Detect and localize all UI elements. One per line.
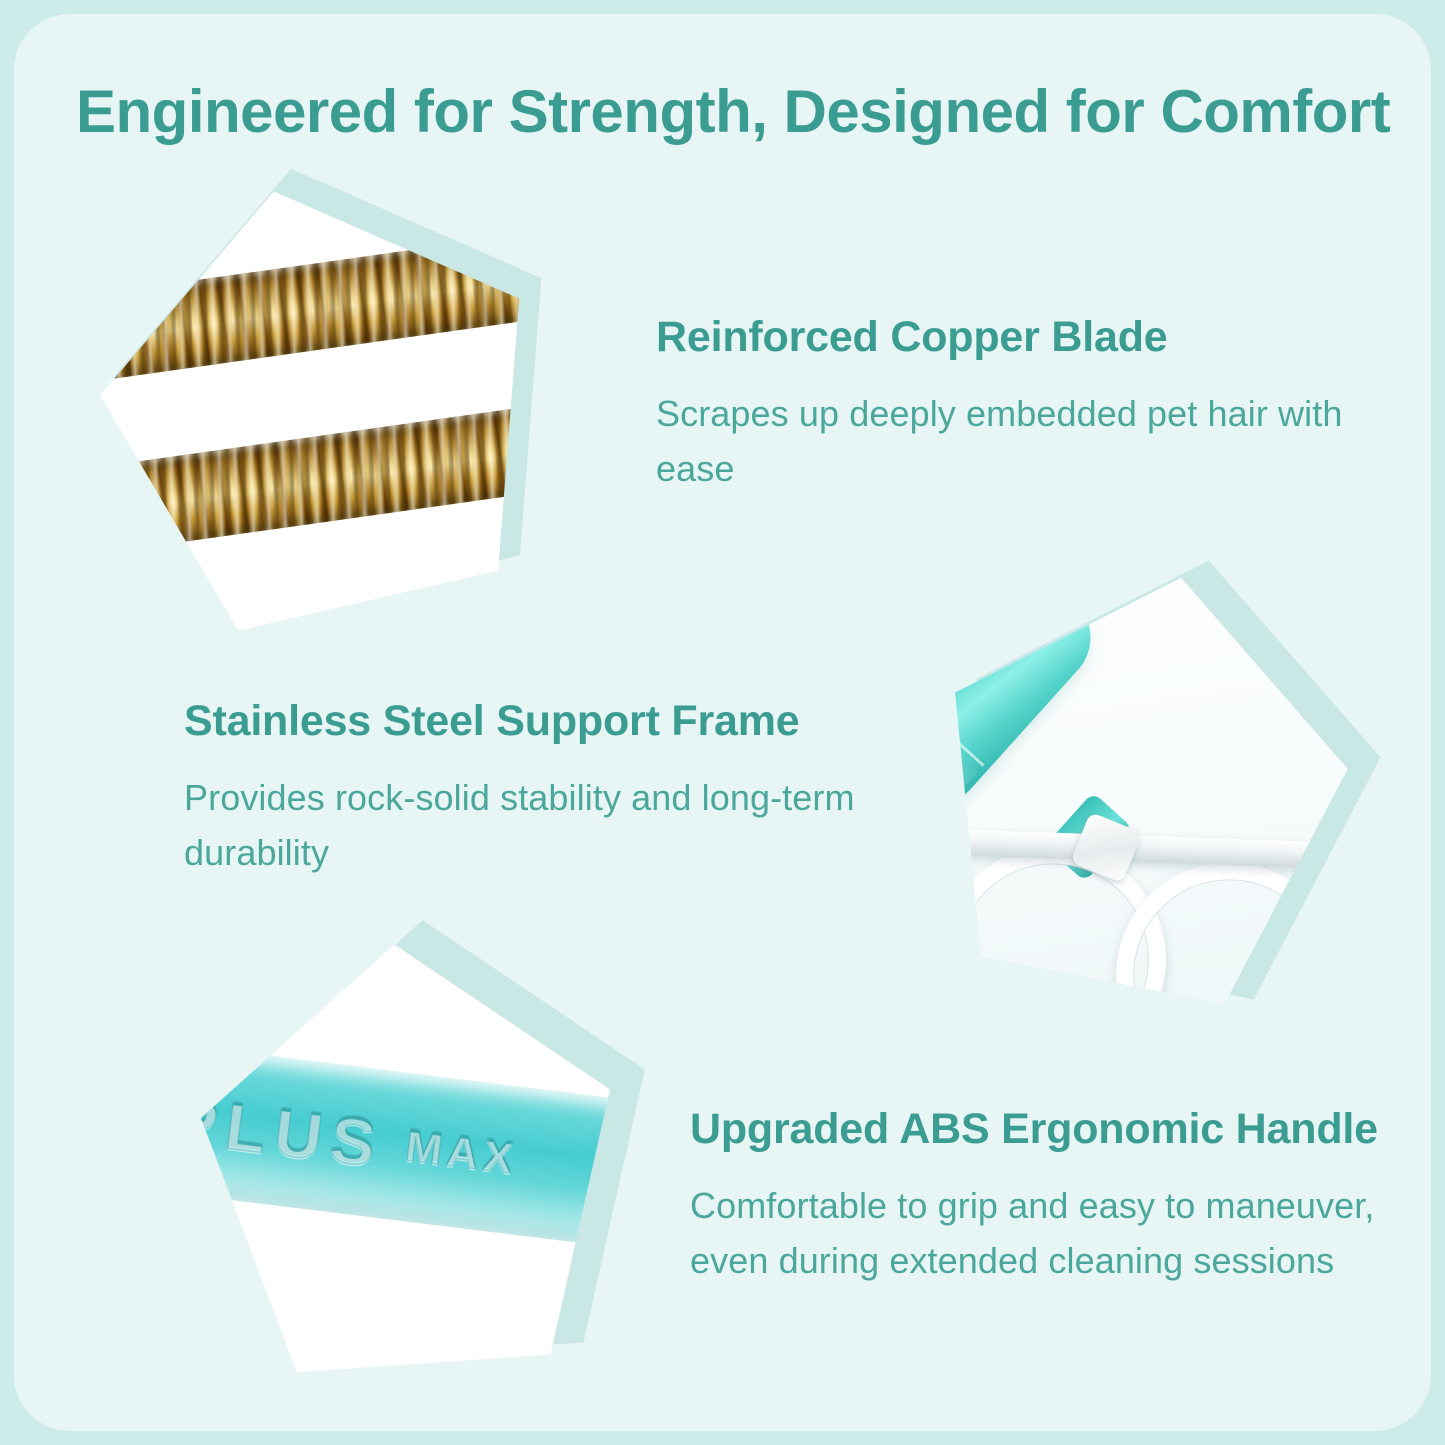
feature-text-ergonomic-handle: Upgraded ABS Ergonomic Handle Comfortabl…: [690, 1102, 1430, 1288]
copper-blade-photo: [64, 143, 577, 649]
copper-blade-strip-bottom: [64, 388, 577, 563]
feature-description-copper-blade: Scrapes up deeply embedded pet hair with…: [656, 386, 1356, 496]
feature-title-ergonomic-handle: Upgraded ABS Ergonomic Handle: [690, 1102, 1430, 1156]
handle-teal-band: PLUSMAX: [190, 1041, 628, 1255]
feature-image-support-frame: [907, 540, 1378, 1019]
tile-plate: [907, 540, 1378, 1019]
feature-title-copper-blade: Reinforced Copper Blade: [656, 310, 1356, 364]
support-frame-photo: [907, 540, 1378, 1019]
brand-text: PLUS: [190, 1082, 389, 1181]
embossed-brand-marking: PLUSMAX: [190, 1081, 523, 1199]
tile-plate: [64, 143, 577, 649]
product-feature-infographic: Engineered for Strength, Designed for Co…: [0, 0, 1445, 1445]
teal-handle-grip: [907, 570, 1111, 813]
feature-description-ergonomic-handle: Comfortable to grip and easy to maneuver…: [690, 1178, 1430, 1288]
feature-text-support-frame: Stainless Steel Support Frame Provides r…: [184, 694, 864, 880]
page-title: Engineered for Strength, Designed for Co…: [76, 76, 1406, 148]
feature-text-copper-blade: Reinforced Copper Blade Scrapes up deepl…: [656, 310, 1356, 496]
feature-image-copper-blade: [64, 143, 577, 649]
variant-text: MAX: [403, 1121, 521, 1183]
feature-description-support-frame: Provides rock-solid stability and long-t…: [184, 770, 864, 880]
copper-blade-strip-top: [64, 221, 577, 396]
infographic-card: Engineered for Strength, Designed for Co…: [14, 14, 1431, 1431]
feature-title-support-frame: Stainless Steel Support Frame: [184, 694, 864, 748]
feature-image-ergonomic-handle: PLUSMAX: [190, 930, 628, 1378]
